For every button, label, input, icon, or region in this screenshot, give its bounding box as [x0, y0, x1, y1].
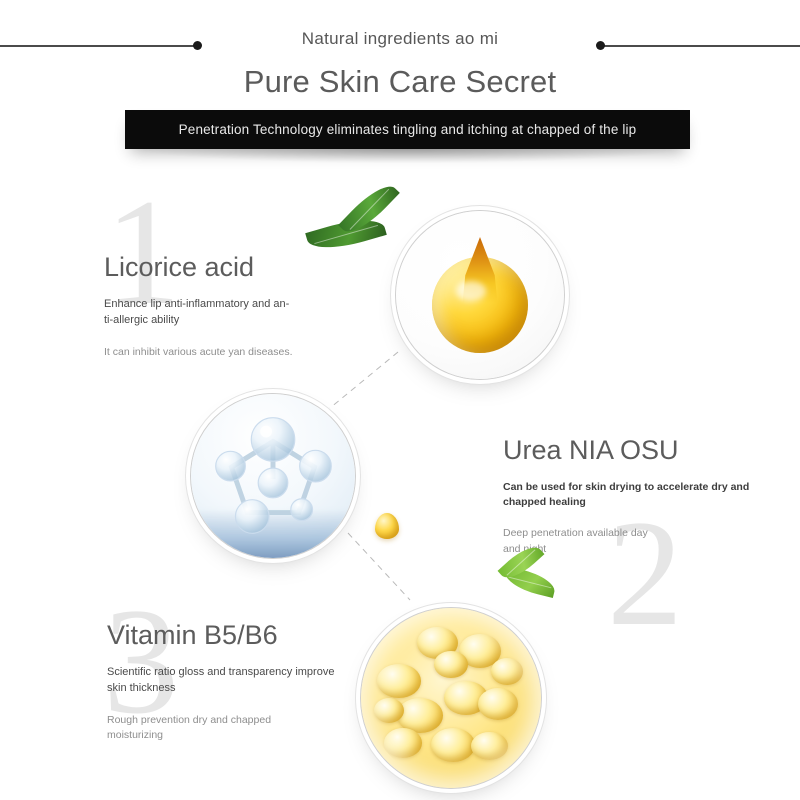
ingredient-block-urea: Urea NIA OSU Can be used for skin drying… — [503, 435, 749, 557]
page-title: Pure Skin Care Secret — [0, 64, 800, 100]
ingredient-lead-2: Can be used for skin drying to accelerat… — [503, 480, 749, 510]
ingredient-lead-1: Enhance lip anti-inflammatory and an- ti… — [104, 297, 293, 329]
molecule-icon — [191, 394, 355, 558]
ingredient-block-licorice-acid: Licorice acid Enhance lip anti-inflammat… — [104, 252, 293, 360]
ingredient-block-vitamin: Vitamin B5/B6 Scientific ratio gloss and… — [107, 620, 334, 743]
connector-2-3 — [348, 533, 410, 600]
ingredient-image-oil-droplet — [395, 210, 565, 380]
ingredient-image-molecule — [190, 393, 356, 559]
ingredient-sub-1: It can inhibit various acute yan disease… — [104, 345, 293, 360]
infographic-root: Natural ingredients ao mi Pure Skin Care… — [0, 0, 800, 800]
ingredient-lead-3: Scientific ratio gloss and transparency … — [107, 665, 334, 697]
ingredient-sub-3: Rough prevention dry and chapped moistur… — [107, 713, 334, 743]
ingredient-title-3: Vitamin B5/B6 — [107, 620, 334, 651]
header-kicker: Natural ingredients ao mi — [0, 29, 800, 49]
ingredient-image-capsules — [360, 607, 542, 789]
ingredient-title-1: Licorice acid — [104, 252, 293, 283]
ingredient-title-2: Urea NIA OSU — [503, 435, 749, 466]
capsule-cluster-icon — [367, 614, 535, 782]
oil-droplet-icon — [375, 513, 399, 539]
header-banner-text: Penetration Technology eliminates tingli… — [179, 122, 637, 137]
header-banner: Penetration Technology eliminates tingli… — [125, 110, 690, 149]
oil-droplet-icon — [432, 237, 528, 353]
